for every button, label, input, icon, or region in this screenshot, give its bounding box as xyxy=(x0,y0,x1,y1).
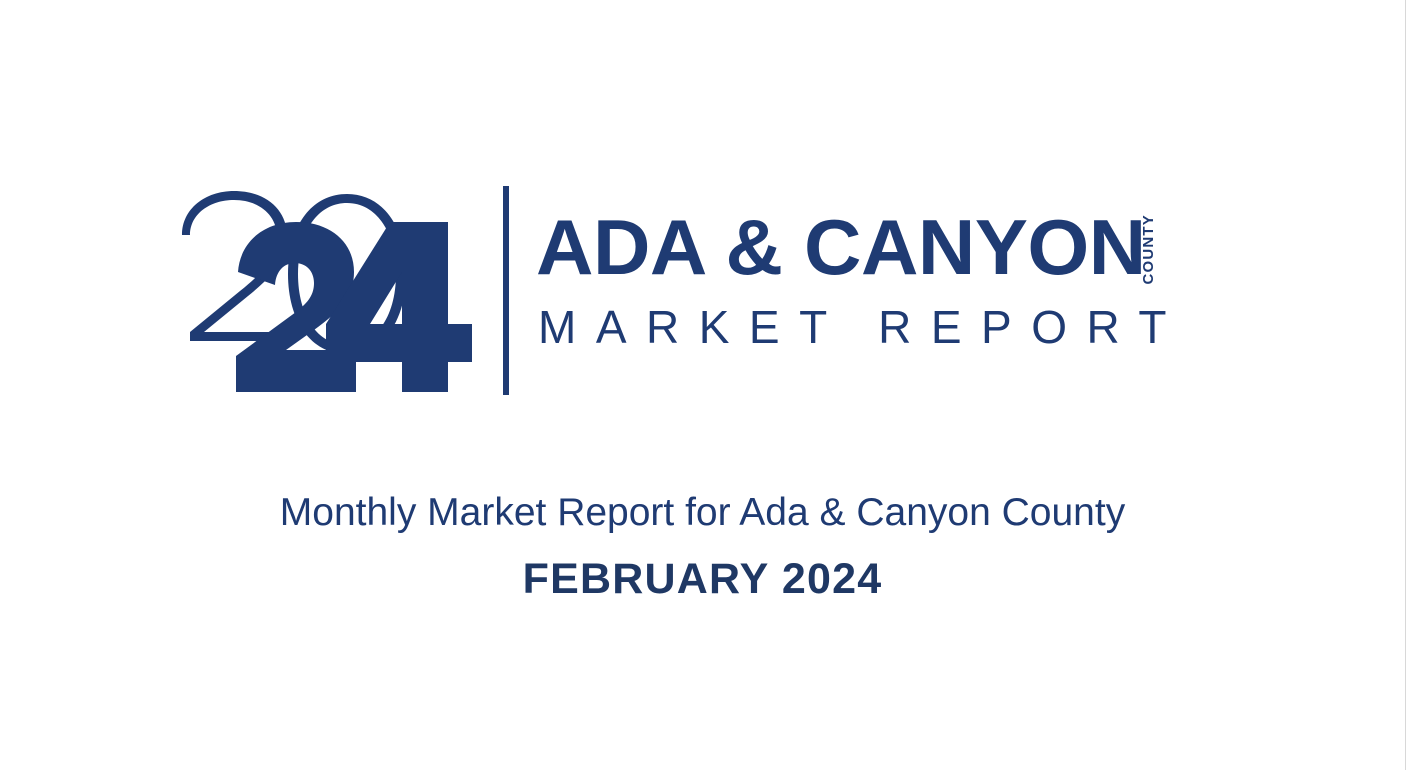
year-2024-artwork xyxy=(176,180,476,400)
market-report-logo: ADA & CANYON COUNTY MARKET REPORT xyxy=(176,180,1231,400)
logo-tagline: MARKET REPORT xyxy=(538,304,1186,350)
logo-title-row: ADA & CANYON COUNTY xyxy=(536,208,1156,288)
cover-page: ADA & CANYON COUNTY MARKET REPORT Monthl… xyxy=(0,0,1406,770)
logo-county-label: COUNTY xyxy=(1141,214,1156,285)
report-date: FEBRUARY 2024 xyxy=(0,553,1405,605)
report-subtitle: Monthly Market Report for Ada & Canyon C… xyxy=(0,489,1405,537)
logo-year-2024 xyxy=(176,180,476,400)
logo-divider xyxy=(503,186,509,395)
logo-wordmark: ADA & CANYON COUNTY MARKET REPORT xyxy=(536,180,1231,400)
logo-title: ADA & CANYON xyxy=(536,208,1146,286)
